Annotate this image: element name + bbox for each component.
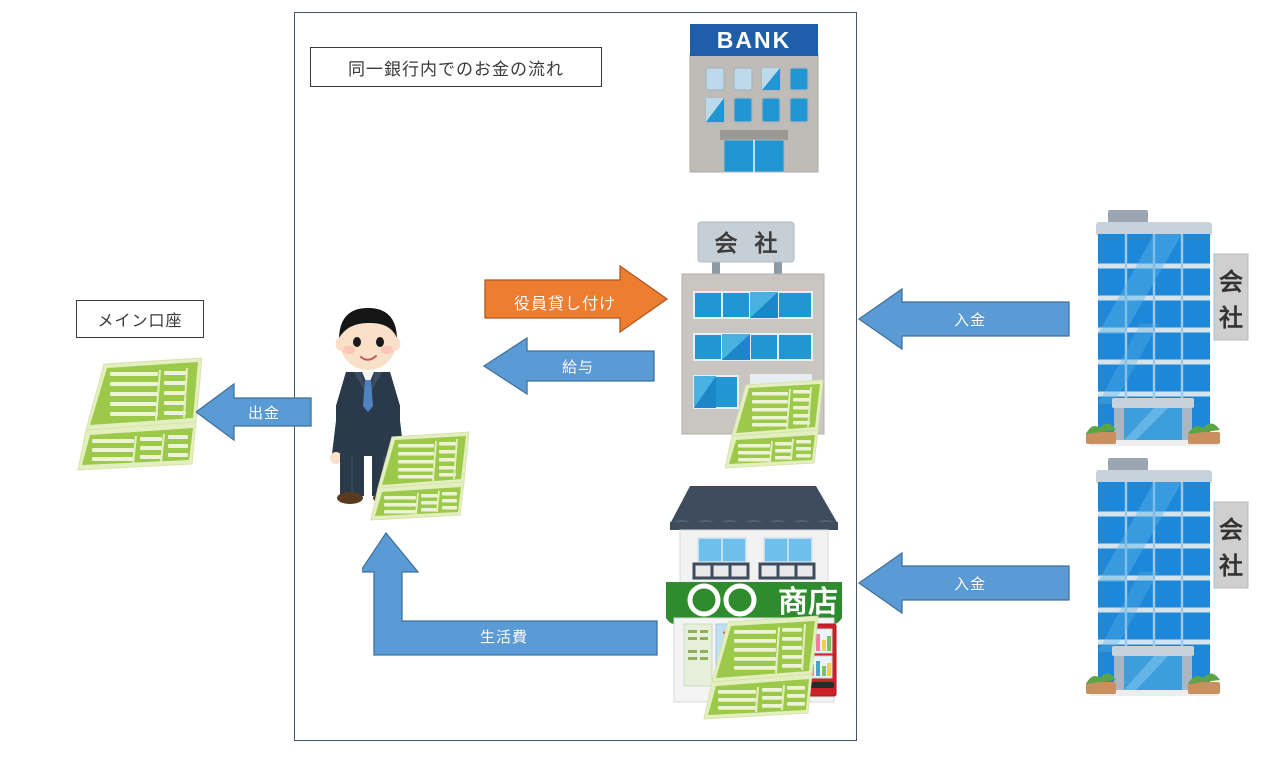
arrow-living-expenses: 生活費: [362, 528, 658, 656]
svg-text:社: 社: [1219, 552, 1243, 580]
diagram-title-text: 同一銀行内でのお金の流れ: [348, 55, 564, 80]
passbook-shop: [700, 612, 828, 722]
diagram-title-box: 同一銀行内でのお金の流れ: [310, 47, 602, 87]
office-sign-text-lower: 会: [1219, 516, 1243, 544]
office-tower-lower: 会 社: [1084, 450, 1264, 700]
bank-building: BANK: [686, 22, 822, 174]
arrow-deposit-upper: 入金: [858, 288, 1070, 350]
arrow-living-expenses-label: 生活費: [480, 626, 528, 647]
arrow-deposit-upper-label: 入金: [954, 309, 986, 330]
office-sign-text-upper: 会: [1219, 268, 1243, 296]
passbook-person: [368, 428, 478, 522]
arrow-salary-label: 給与: [562, 356, 594, 377]
passbook-main-account: [74, 352, 214, 474]
arrow-withdrawal: 出金: [196, 383, 312, 441]
arrow-deposit-lower-label: 入金: [954, 573, 986, 594]
main-account-label-box: メイン口座: [76, 300, 204, 338]
arrow-deposit-lower: 入金: [858, 552, 1070, 614]
arrow-director-loan-label: 役員貸し付け: [514, 290, 616, 314]
arrow-withdrawal-label: 出金: [248, 402, 280, 423]
bank-sign-text: BANK: [717, 27, 791, 53]
passbook-company: [722, 376, 832, 470]
company-sign-text: 会: [715, 230, 738, 256]
arrow-salary: 給与: [483, 337, 655, 395]
svg-text:社: 社: [1219, 304, 1243, 332]
office-tower-upper: 会 社: [1084, 204, 1264, 450]
main-account-label-text: メイン口座: [97, 307, 182, 331]
arrow-director-loan: 役員貸し付け: [484, 264, 668, 334]
svg-text:社: 社: [755, 230, 778, 256]
